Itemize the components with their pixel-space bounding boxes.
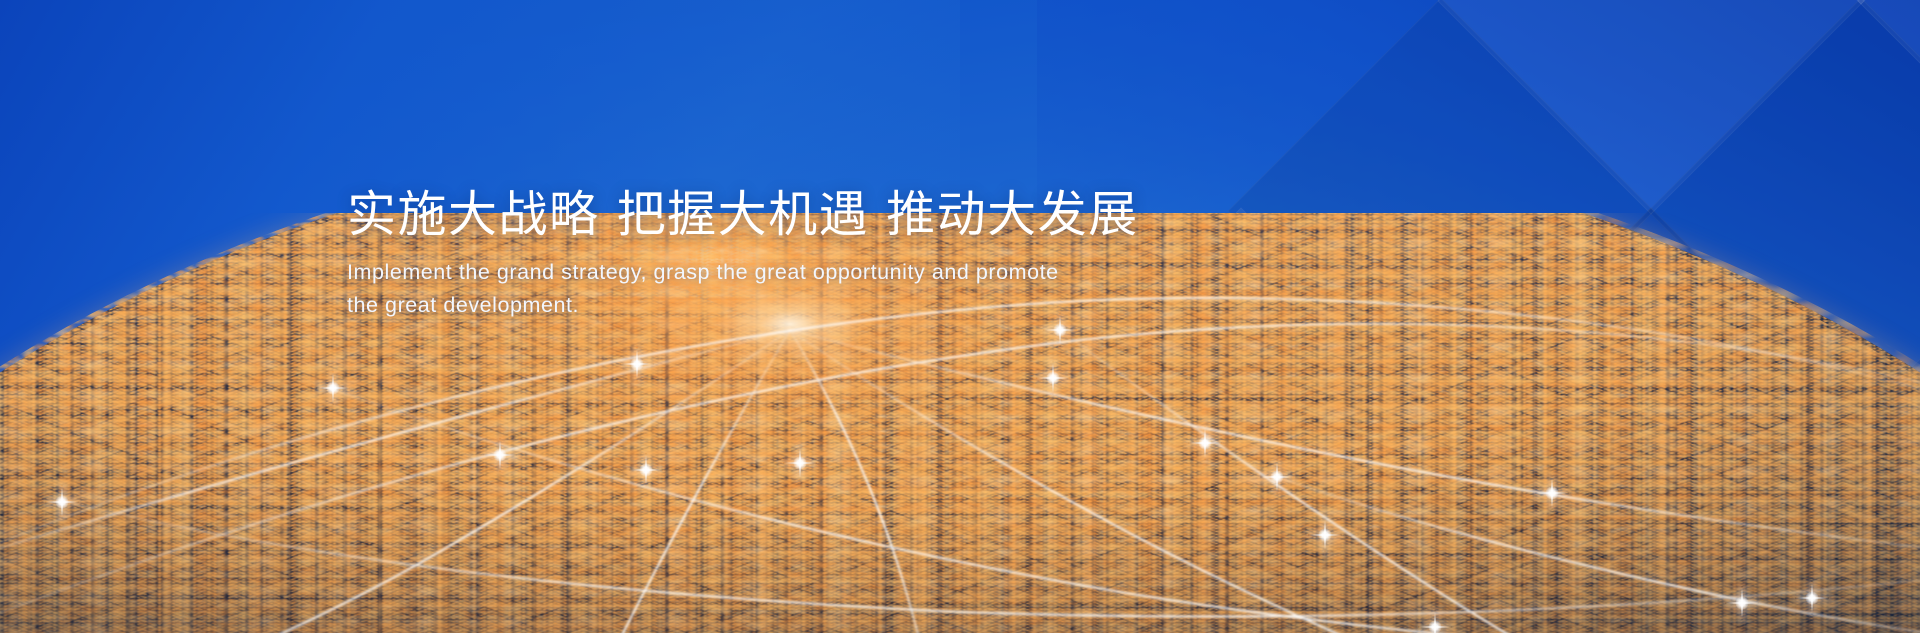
banner-headline: 实施大战略 把握大机遇 推动大发展 — [347, 190, 1247, 240]
hero-banner: 实施大战略 把握大机遇 推动大发展 Implement the grand st… — [0, 0, 1920, 633]
banner-subtitle-line-1: Implement the grand strategy, grasp the … — [347, 260, 1059, 284]
banner-subtitle-line-2: the great development. — [347, 293, 579, 317]
banner-copy-block: 实施大战略 把握大机遇 推动大发展 Implement the grand st… — [347, 190, 1247, 323]
banner-subtitle: Implement the grand strategy, grasp the … — [347, 256, 1227, 323]
